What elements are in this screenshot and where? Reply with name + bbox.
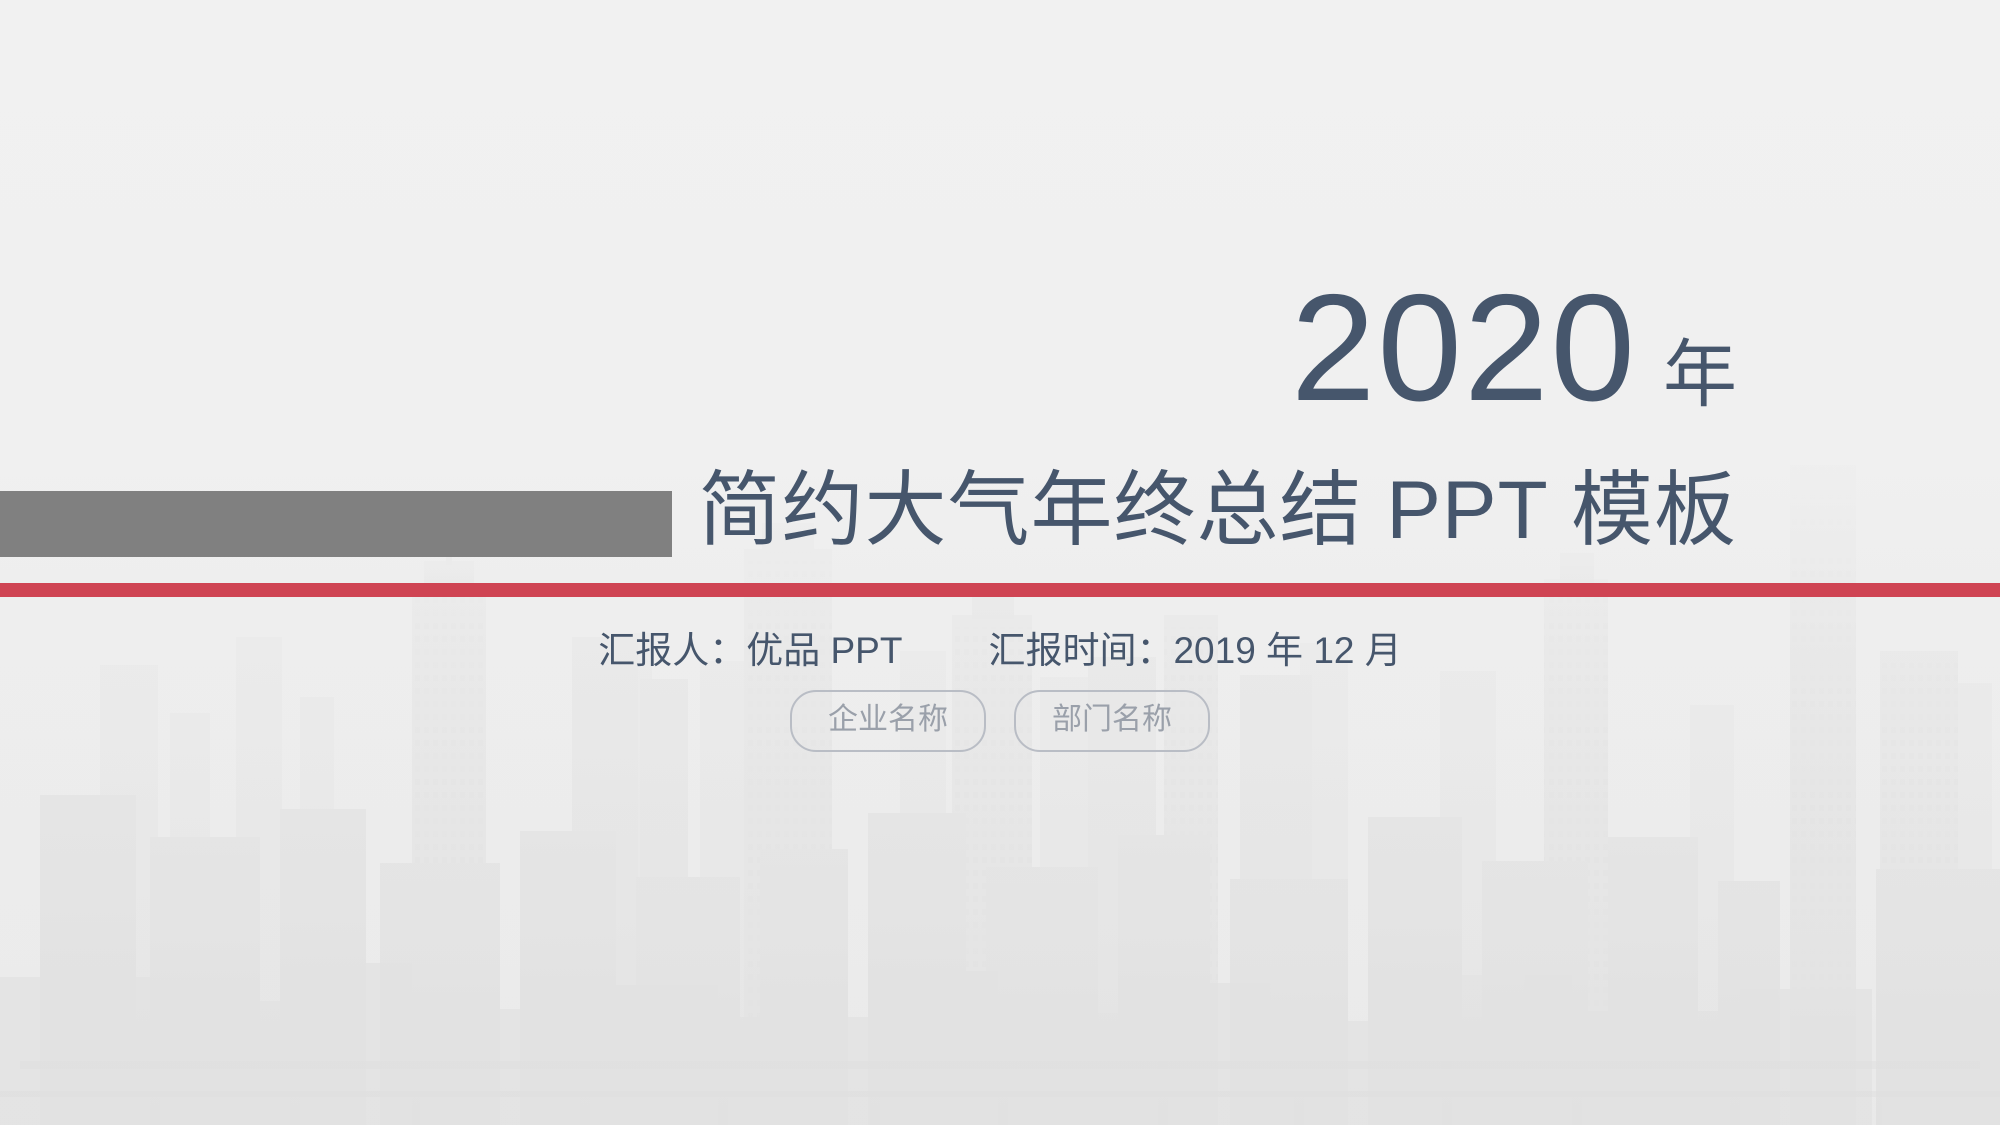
department-name-pill[interactable]: 部门名称 bbox=[1014, 690, 1210, 752]
company-name-pill[interactable]: 企业名称 bbox=[790, 690, 986, 752]
report-time-label: 汇报时间：2019 年 12 月 bbox=[988, 630, 1401, 671]
city-skyline-backdrop bbox=[0, 465, 2000, 1125]
pill-row: 企业名称部门名称 bbox=[0, 690, 2000, 752]
meta-info-row: 汇报人：优品 PPT汇报时间：2019 年 12 月 bbox=[0, 632, 2000, 669]
ppt-cover-slide: 2020年 简约大气年终总结 PPT 模板 汇报人：优品 PPT汇报时间：201… bbox=[0, 0, 2000, 1125]
year-number: 2020 bbox=[1291, 263, 1637, 433]
page-title: 简约大气年终总结 PPT 模板 bbox=[0, 470, 1737, 552]
year-suffix-label: 年 bbox=[1663, 333, 1737, 416]
red-divider-rule bbox=[0, 583, 2000, 597]
presenter-label: 汇报人：优品 PPT bbox=[598, 630, 902, 671]
year-heading: 2020年 bbox=[0, 272, 1737, 424]
